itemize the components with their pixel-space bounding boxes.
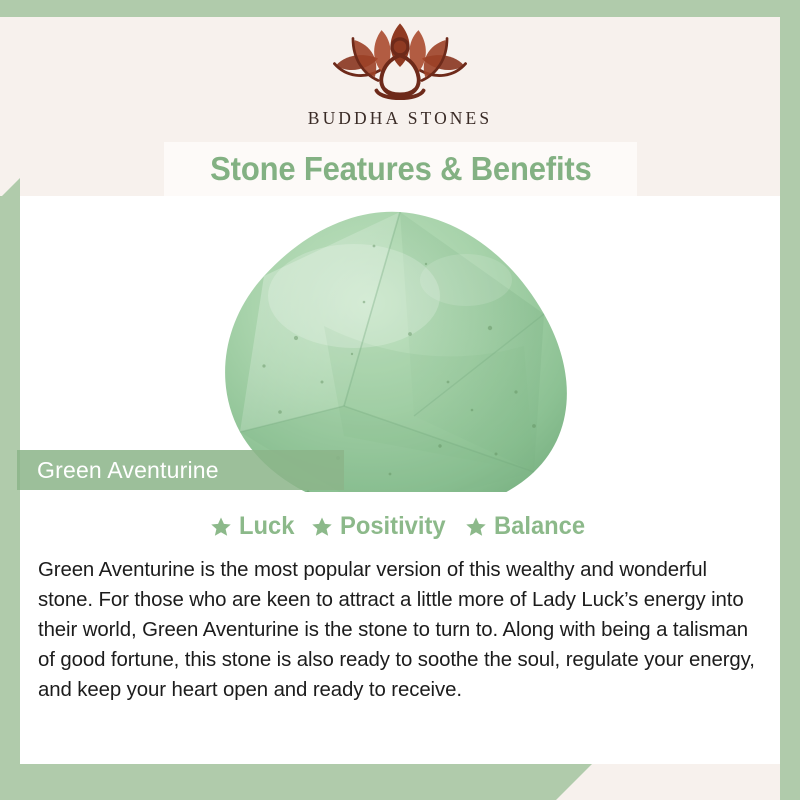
benefits-list: Luck Positivity Balance bbox=[20, 512, 780, 541]
star-icon bbox=[465, 516, 487, 538]
frame-band-bottom bbox=[0, 764, 592, 800]
benefit-item-luck: Luck bbox=[210, 512, 297, 541]
stone-photo bbox=[20, 196, 780, 492]
benefit-item-positivity: Positivity bbox=[311, 512, 451, 541]
title-banner: Stone Features & Benefits bbox=[164, 142, 637, 196]
brand-name: BUDDHA STONES bbox=[308, 108, 492, 129]
stone-benefits-card: BUDDHA STONES Stone Features & Benefits bbox=[0, 0, 800, 800]
stone-name: Green Aventurine bbox=[17, 457, 219, 484]
frame-band-left bbox=[0, 196, 20, 800]
content-panel: Luck Positivity Balance Green Aventurine… bbox=[20, 492, 780, 764]
frame-band-top bbox=[0, 0, 800, 17]
star-icon bbox=[311, 516, 333, 538]
page-title: Stone Features & Benefits bbox=[210, 150, 591, 188]
benefit-label: Luck bbox=[239, 512, 294, 541]
benefit-label: Balance bbox=[494, 512, 585, 541]
stone-name-bar: Green Aventurine bbox=[17, 450, 344, 490]
benefit-item-balance: Balance bbox=[465, 512, 590, 541]
description-paragraph: Green Aventurine is the most popular ver… bbox=[38, 555, 762, 705]
benefit-label: Positivity bbox=[340, 512, 446, 541]
lotus-meditation-icon bbox=[316, 18, 484, 106]
brand-logo: BUDDHA STONES bbox=[0, 18, 800, 138]
star-icon bbox=[210, 516, 232, 538]
